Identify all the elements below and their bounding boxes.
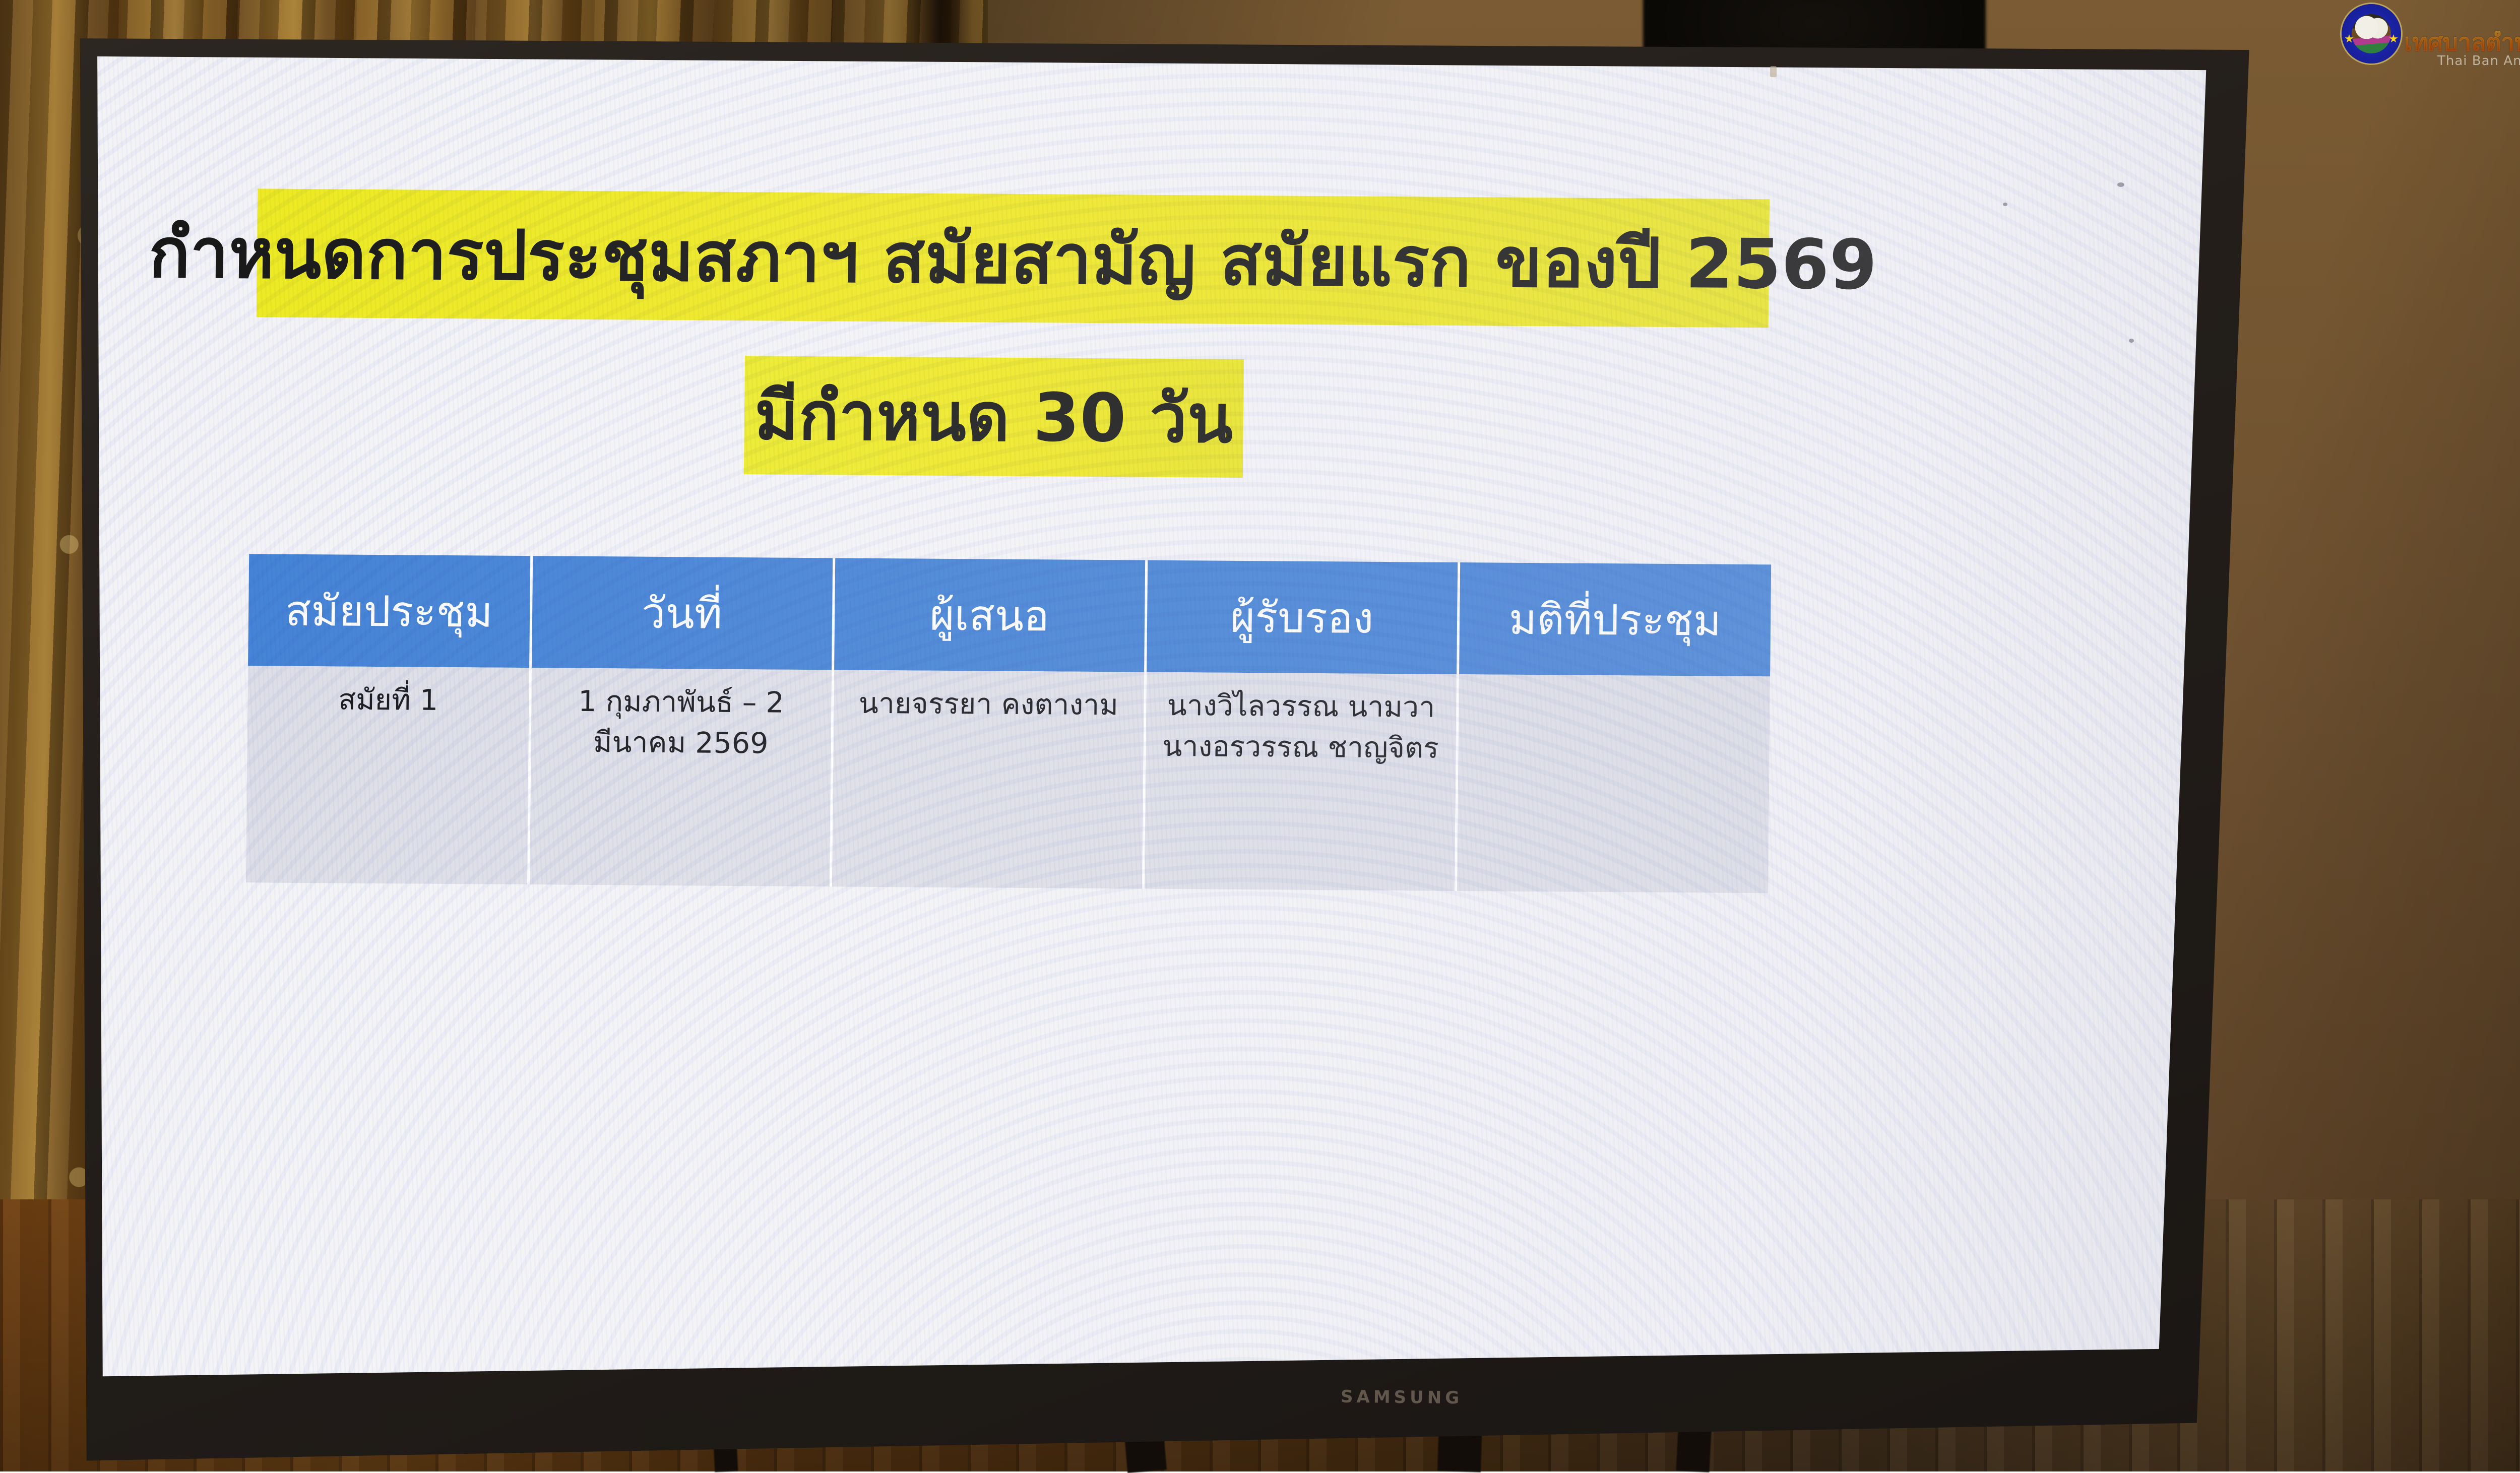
cell-endorser-line-2: นางอรวรรณ ชาญจิตร — [1152, 726, 1450, 769]
cell-resolution-text — [1465, 687, 1763, 689]
cell-endorser: นางวิไลวรรณ นามวา นางอรวรรณ ชาญจิตร — [1143, 672, 1458, 891]
cell-proposer-text: นายจรรยา คงตางาม — [840, 683, 1138, 726]
column-header-resolution: มติที่ประชุม — [1458, 562, 1771, 676]
meeting-schedule-table: สมัยประชุม วันที่ ผู้เสนอ ผู้รับรอง มติท… — [246, 554, 1771, 893]
seal-inner-emblem — [2352, 14, 2391, 53]
cell-date-line-2: มีนาคม 2569 — [537, 722, 825, 764]
screen-dust-speck — [2117, 182, 2124, 187]
cell-date-line-1: 1 กุมภาพันธ์ – 2 — [537, 681, 826, 724]
slide-subtitle-banner: มีกำหนด 30 วัน — [744, 356, 1244, 478]
watermark-english-left: Thai Ban Ang — [2437, 53, 2520, 69]
slide-title-banner: กำหนดการประชุมสภาฯ สมัยสามัญ สมัยแรก ของ… — [257, 188, 1770, 328]
cell-session: สมัยที่ 1 — [246, 666, 530, 884]
watermark-english-text: Thai Ban Ang Ubon ratchathani — [2437, 53, 2520, 69]
table-row: สมัยที่ 1 1 กุมภาพันธ์ – 2 มีนาคม 2569 น… — [246, 666, 1770, 893]
screen-dust-speck — [2003, 203, 2007, 206]
cell-endorser-line-1: นางวิไลวรรณ นามวา — [1152, 685, 1451, 728]
municipality-seal-icon — [2342, 4, 2401, 63]
tv-screen: กำหนดการประชุมสภาฯ สมัยสามัญ สมัยแรก ของ… — [88, 41, 2230, 1412]
column-header-session: สมัยประชุม — [248, 554, 531, 668]
column-header-date: วันที่ — [530, 556, 834, 670]
room-background: กำหนดการประชุมสภาฯ สมัยสามัญ สมัยแรก ของ… — [0, 0, 2520, 1471]
column-header-proposer: ผู้เสนอ — [833, 558, 1146, 672]
tv-ir-sensor — [1770, 66, 1777, 77]
cell-date: 1 กุมภาพันธ์ – 2 มีนาคม 2569 — [528, 668, 833, 886]
cell-resolution — [1456, 674, 1770, 893]
column-header-endorser: ผู้รับรอง — [1145, 560, 1459, 674]
watermark: เทศบาลตำบลอ่างศิลา Thai Ban Ang Ubon rat… — [2338, 1, 2520, 72]
samsung-wordmark: SAMSUNG — [1341, 1387, 1463, 1408]
television: กำหนดการประชุมสภาฯ สมัยสามัญ สมัยแรก ของ… — [76, 15, 2258, 1466]
presentation-slide: กำหนดการประชุมสภาฯ สมัยสามัญ สมัยแรก ของ… — [88, 41, 2230, 1412]
cell-proposer: นายจรรยา คงตางาม — [831, 670, 1145, 888]
table-header-row: สมัยประชุม วันที่ ผู้เสนอ ผู้รับรอง มติท… — [248, 554, 1771, 676]
cell-session-text: สมัยที่ 1 — [254, 679, 523, 722]
screen-dust-speck — [2129, 339, 2134, 343]
